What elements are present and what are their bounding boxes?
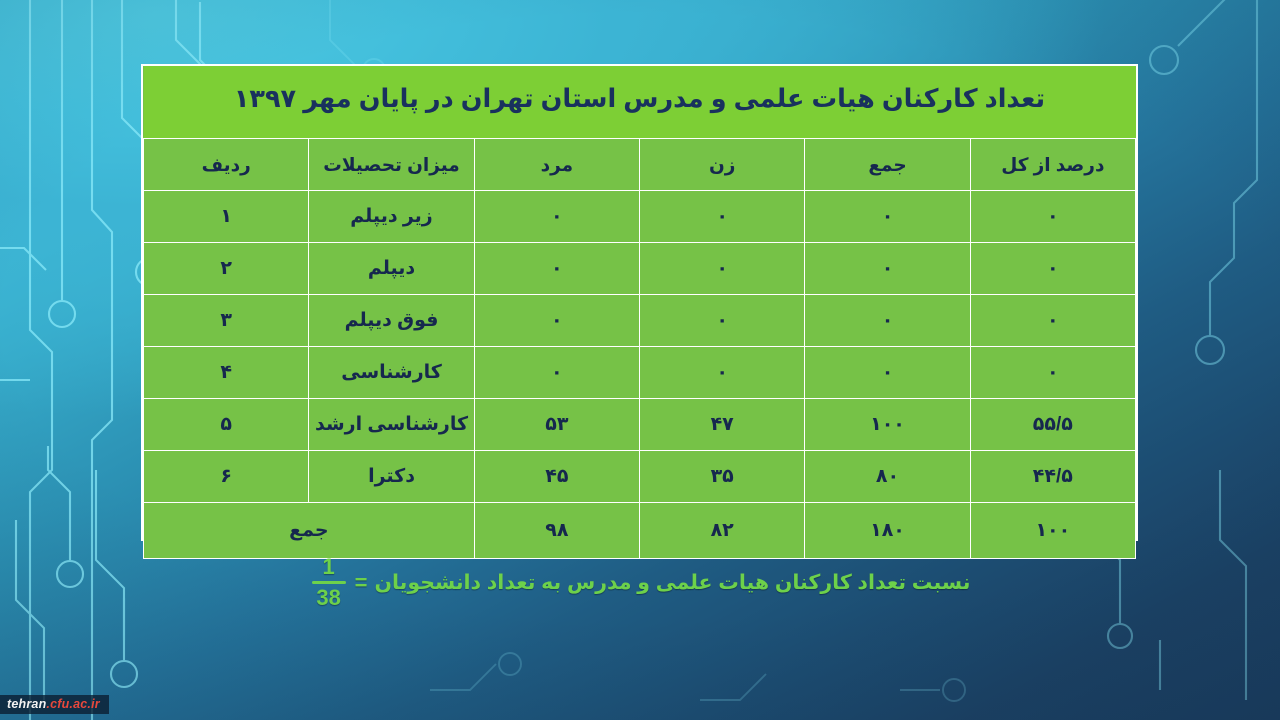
table-header-row: درصد از کل جمع زن مرد میزان تحصیلات ردیف <box>144 139 1136 191</box>
cell-row-index: ۵ <box>144 399 309 451</box>
cell-education: فوق دیپلم <box>309 295 474 347</box>
cell-female: ۴۷ <box>640 399 805 451</box>
watermark-primary: tehran <box>7 697 46 711</box>
equals-sign: = <box>355 570 368 596</box>
cell-percent: ٠ <box>970 191 1135 243</box>
fraction-bar <box>312 581 346 584</box>
fraction-denominator: 38 <box>316 586 340 609</box>
total-row-label: جمع <box>144 503 475 559</box>
cell-female: ٠ <box>640 243 805 295</box>
ratio-fraction: 1 38 <box>312 556 346 609</box>
cell-row-index: ۶ <box>144 451 309 503</box>
cell-male: ٠ <box>474 243 639 295</box>
fraction-numerator: 1 <box>322 556 334 580</box>
cell-percent: ٠ <box>970 347 1135 399</box>
cell-male: ٠ <box>474 347 639 399</box>
cell-education: دیپلم <box>309 243 474 295</box>
cell-male: ۴۵ <box>474 451 639 503</box>
cell-female: ۳۵ <box>640 451 805 503</box>
cell-sum: ۱۰۰ <box>805 399 970 451</box>
table-row: ٠ ٠ ٠ ٠ فوق دیپلم ۳ <box>144 295 1136 347</box>
cell-percent: ۵۵/۵ <box>970 399 1135 451</box>
cell-male: ٠ <box>474 295 639 347</box>
cell-row-index: ۱ <box>144 191 309 243</box>
cell-education: دکترا <box>309 451 474 503</box>
table-row: ٠ ٠ ٠ ٠ دیپلم ۲ <box>144 243 1136 295</box>
statistics-table-container: تعداد کارکنان هیات علمی و مدرس استان تهر… <box>141 64 1138 541</box>
column-header-female: زن <box>640 139 805 191</box>
cell-female: ٠ <box>640 191 805 243</box>
column-header-row-index: ردیف <box>144 139 309 191</box>
cell-female: ٠ <box>640 295 805 347</box>
ratio-caption: نسبت تعداد کارکنان هیات علمی و مدرس به ت… <box>0 556 1280 609</box>
table-title: تعداد کارکنان هیات علمی و مدرس استان تهر… <box>144 66 1136 139</box>
column-header-male: مرد <box>474 139 639 191</box>
column-header-sum: جمع <box>805 139 970 191</box>
cell-percent: ۴۴/۵ <box>970 451 1135 503</box>
total-cell-female: ۸۲ <box>640 503 805 559</box>
cell-row-index: ۳ <box>144 295 309 347</box>
cell-male: ٠ <box>474 191 639 243</box>
cell-female: ٠ <box>640 347 805 399</box>
cell-sum: ۸۰ <box>805 451 970 503</box>
cell-education: زیر دیپلم <box>309 191 474 243</box>
column-header-education: میزان تحصیلات <box>309 139 474 191</box>
total-cell-male: ۹۸ <box>474 503 639 559</box>
cell-education: کارشناسی <box>309 347 474 399</box>
cell-percent: ٠ <box>970 295 1135 347</box>
statistics-table: تعداد کارکنان هیات علمی و مدرس استان تهر… <box>143 66 1136 559</box>
cell-sum: ٠ <box>805 191 970 243</box>
cell-percent: ٠ <box>970 243 1135 295</box>
table-row: ۵۵/۵ ۱۰۰ ۴۷ ۵۳ کارشناسی ارشد ۵ <box>144 399 1136 451</box>
cell-row-index: ۴ <box>144 347 309 399</box>
table-row: ٠ ٠ ٠ ٠ کارشناسی ۴ <box>144 347 1136 399</box>
table-total-row: ۱۰۰ ۱۸۰ ۸۲ ۹۸ جمع <box>144 503 1136 559</box>
ratio-caption-text: نسبت تعداد کارکنان هیات علمی و مدرس به ت… <box>374 570 970 595</box>
column-header-percent: درصد از کل <box>970 139 1135 191</box>
cell-sum: ٠ <box>805 347 970 399</box>
cell-sum: ٠ <box>805 295 970 347</box>
cell-sum: ٠ <box>805 243 970 295</box>
cell-row-index: ۲ <box>144 243 309 295</box>
watermark-secondary: .cfu.ac.ir <box>46 697 99 711</box>
table-row: ۴۴/۵ ۸۰ ۳۵ ۴۵ دکترا ۶ <box>144 451 1136 503</box>
table-row: ٠ ٠ ٠ ٠ زیر دیپلم ۱ <box>144 191 1136 243</box>
cell-male: ۵۳ <box>474 399 639 451</box>
total-cell-percent: ۱۰۰ <box>970 503 1135 559</box>
table-body: تعداد کارکنان هیات علمی و مدرس استان تهر… <box>144 66 1136 559</box>
site-watermark: tehran.cfu.ac.ir <box>0 695 109 715</box>
table-title-row: تعداد کارکنان هیات علمی و مدرس استان تهر… <box>144 66 1136 139</box>
total-cell-sum: ۱۸۰ <box>805 503 970 559</box>
cell-education: کارشناسی ارشد <box>309 399 474 451</box>
